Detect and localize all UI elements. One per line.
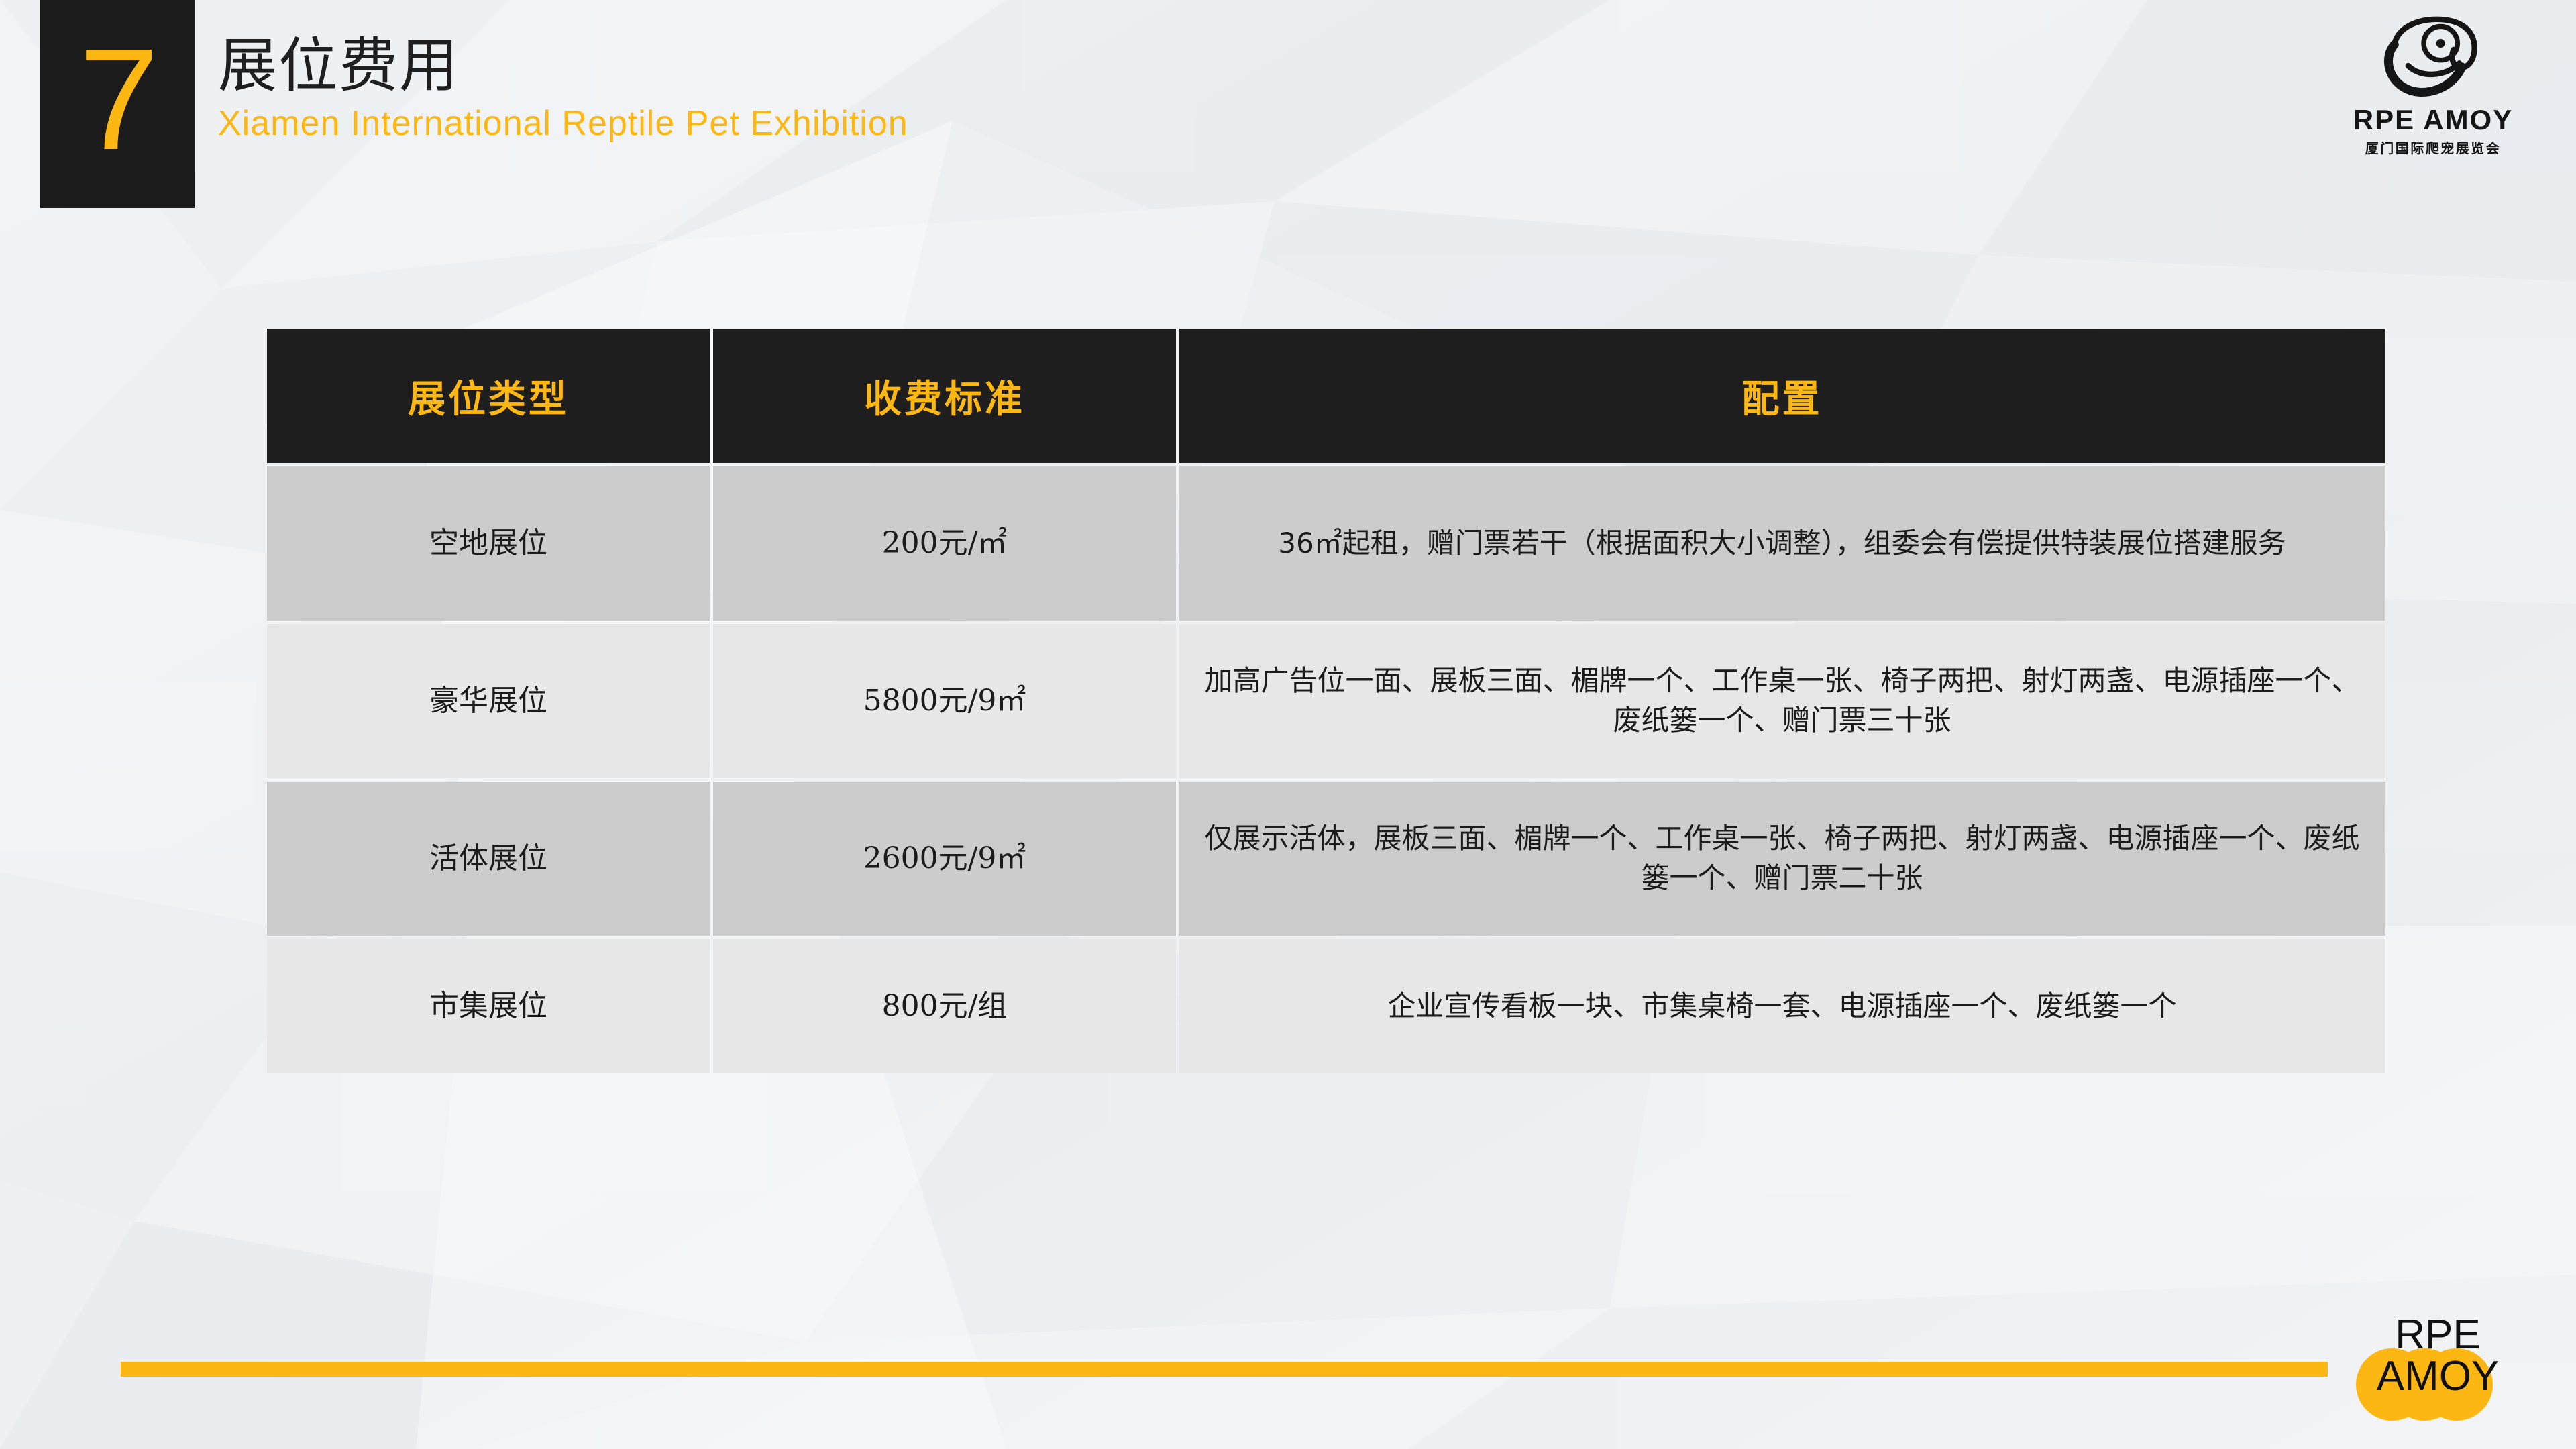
table-header-cell-type: 展位类型	[267, 329, 710, 463]
booth-type: 豪华展位	[429, 681, 547, 720]
table-row: 空地展位 200元/㎡ 36㎡起租，赠门票若干（根据面积大小调整），组委会有偿提…	[267, 466, 2385, 621]
logo-wordmark: RPE AMOY	[2353, 104, 2513, 136]
slide-number-badge: 7	[40, 0, 195, 208]
footer-accent-bar	[121, 1362, 2328, 1377]
booth-config: 仅展示活体，展板三面、楣牌一个、工作桌一张、椅子两把、射灯两盏、电源插座一个、废…	[1194, 819, 2370, 898]
table-cell-config: 36㎡起租，赠门票若干（根据面积大小调整），组委会有偿提供特装展位搭建服务	[1179, 466, 2385, 621]
table-cell-type: 市集展位	[267, 939, 710, 1073]
slide-canvas: 7 展位费用 Xiamen International Reptile Pet …	[0, 0, 2576, 1449]
header-label-price: 收费标准	[864, 369, 1025, 423]
slide-number: 7	[78, 27, 156, 171]
booth-type: 市集展位	[429, 986, 547, 1026]
booth-price: 200元/㎡	[882, 523, 1008, 563]
booth-config: 36㎡起租，赠门票若干（根据面积大小调整），组委会有偿提供特装展位搭建服务	[1278, 524, 2286, 563]
booth-type: 活体展位	[429, 839, 547, 878]
table-cell-price: 800元/组	[713, 939, 1176, 1073]
booth-config: 加高广告位一面、展板三面、楣牌一个、工作桌一张、椅子两把、射灯两盏、电源插座一个…	[1194, 661, 2370, 741]
booth-fee-table: 展位类型 收费标准 配置 空地展位 200元/㎡ 36㎡起租，赠门票若干（根据面…	[267, 329, 2385, 1073]
booth-price: 800元/组	[882, 986, 1008, 1026]
table-cell-price: 2600元/9㎡	[713, 782, 1176, 936]
table-header-cell-config: 配置	[1179, 329, 2385, 463]
table-cell-type: 活体展位	[267, 782, 710, 936]
table-header-cell-price: 收费标准	[713, 329, 1176, 463]
table-cell-type: 豪华展位	[267, 624, 710, 778]
footer-logo-line2: AMOY	[2337, 1355, 2538, 1397]
header-label-type: 展位类型	[408, 369, 569, 423]
title-block: 展位费用 Xiamen International Reptile Pet Ex…	[218, 35, 908, 144]
booth-price: 5800元/9㎡	[863, 681, 1026, 720]
table-row: 市集展位 800元/组 企业宣传看板一块、市集桌椅一套、电源插座一个、废纸篓一个	[267, 939, 2385, 1073]
gecko-eye-icon	[2369, 12, 2497, 103]
table-cell-price: 5800元/9㎡	[713, 624, 1176, 778]
page-title: 展位费用	[218, 35, 908, 97]
table-cell-config: 企业宣传看板一块、市集桌椅一套、电源插座一个、废纸篓一个	[1179, 939, 2385, 1073]
footer-logo-line1: RPE	[2337, 1313, 2538, 1356]
logo-subtitle-cn: 厦门国际爬宠展览会	[2365, 138, 2502, 157]
booth-price: 2600元/9㎡	[863, 839, 1026, 878]
table-row: 豪华展位 5800元/9㎡ 加高广告位一面、展板三面、楣牌一个、工作桌一张、椅子…	[267, 624, 2385, 778]
brand-logo: RPE AMOY 厦门国际爬宠展览会	[2322, 12, 2544, 157]
table-cell-type: 空地展位	[267, 466, 710, 621]
header-label-config: 配置	[1742, 369, 1823, 423]
table-cell-config: 加高广告位一面、展板三面、楣牌一个、工作桌一张、椅子两把、射灯两盏、电源插座一个…	[1179, 624, 2385, 778]
footer-logo: RPE AMOY	[2337, 1313, 2538, 1434]
booth-type: 空地展位	[429, 523, 547, 563]
booth-config: 企业宣传看板一块、市集桌椅一套、电源插座一个、废纸篓一个	[1387, 987, 2176, 1026]
page-subtitle: Xiamen International Reptile Pet Exhibit…	[218, 103, 908, 144]
table-cell-price: 200元/㎡	[713, 466, 1176, 621]
table-row: 活体展位 2600元/9㎡ 仅展示活体，展板三面、楣牌一个、工作桌一张、椅子两把…	[267, 782, 2385, 936]
table-cell-config: 仅展示活体，展板三面、楣牌一个、工作桌一张、椅子两把、射灯两盏、电源插座一个、废…	[1179, 782, 2385, 936]
table-header-row: 展位类型 收费标准 配置	[267, 329, 2385, 463]
